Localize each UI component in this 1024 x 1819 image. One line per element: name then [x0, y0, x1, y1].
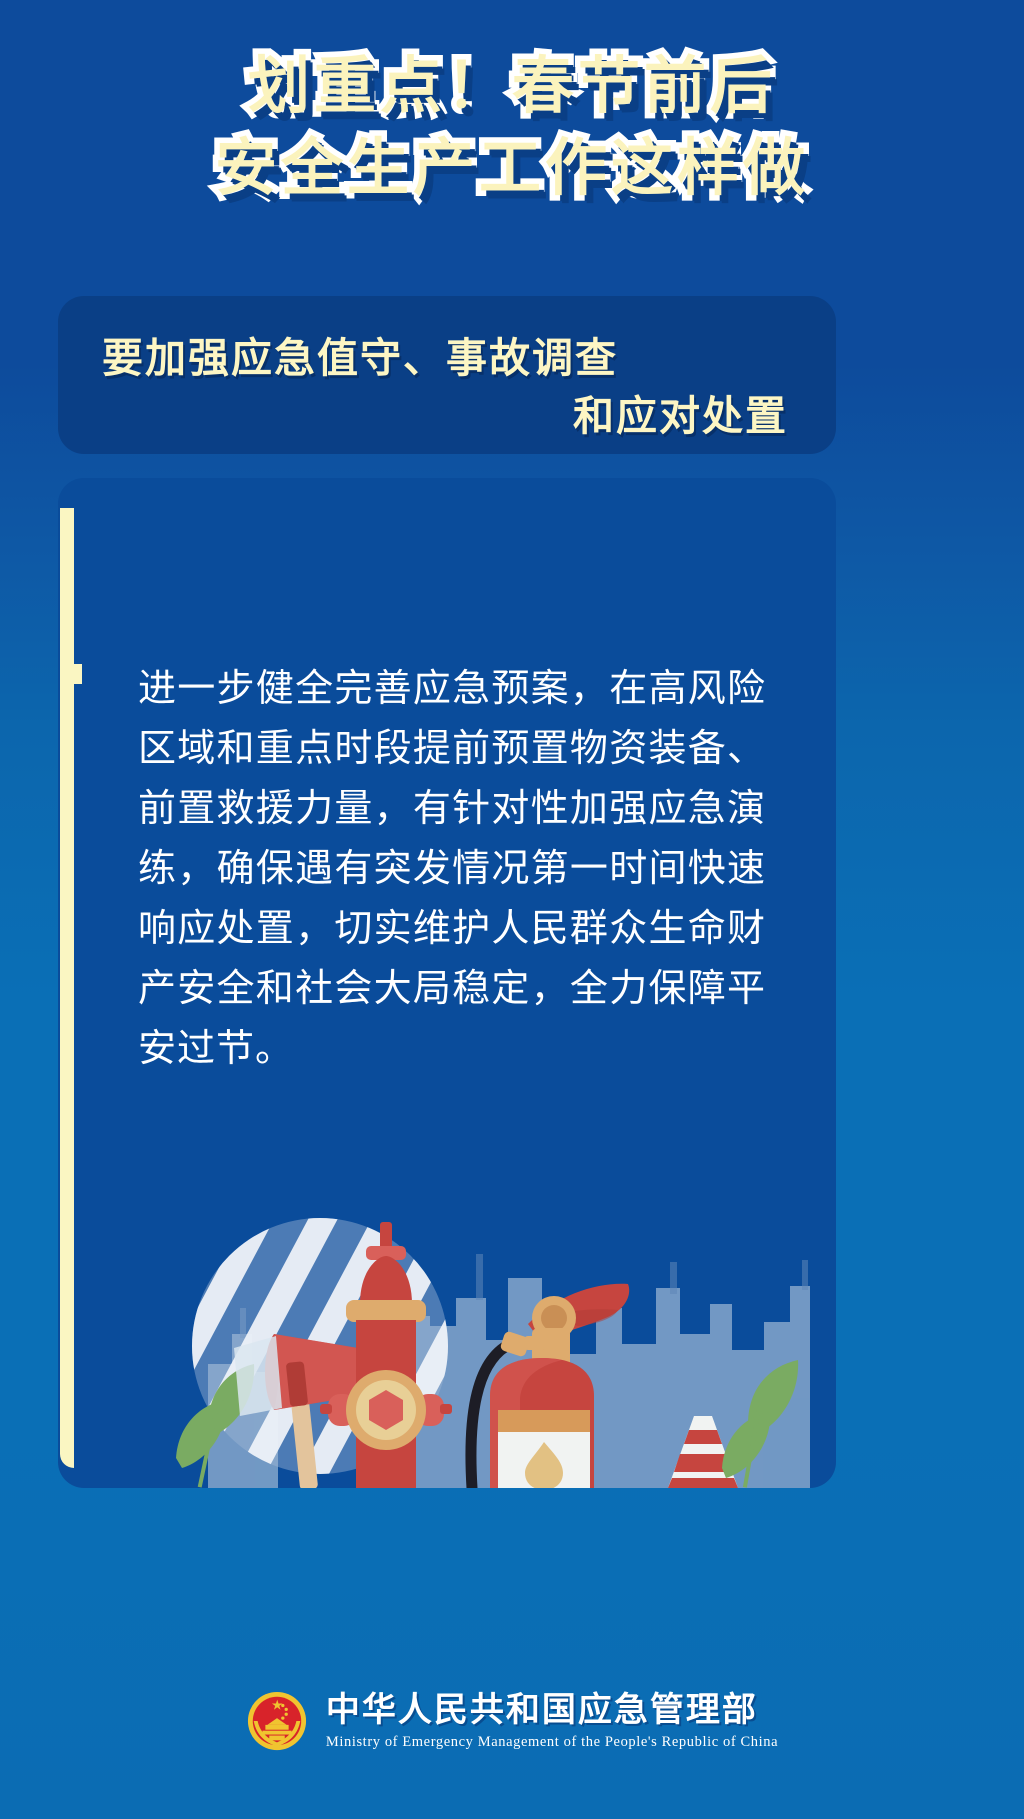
footer-branding: 中华人民共和国应急管理部 Ministry of Emergency Manag…: [0, 1690, 1024, 1752]
title-line-1: 划重点！春节前后: [0, 46, 1024, 126]
footer-org-en: Ministry of Emergency Management of the …: [326, 1732, 778, 1752]
subtitle-line-1: 要加强应急值守、事故调查: [102, 324, 618, 384]
title-line-2: 安全生产工作这样做: [0, 128, 1024, 208]
footer-text-group: 中华人民共和国应急管理部 Ministry of Emergency Manag…: [326, 1690, 778, 1752]
subtitle-banner: 要加强应急值守、事故调查 和应对处置: [58, 296, 836, 454]
poster-root: 划重点！春节前后 安全生产工作这样做 要加强应急值守、事故调查 和应对处置 进一…: [0, 0, 1024, 1819]
subtitle-line-2: 和应对处置: [573, 382, 788, 442]
content-accent-notch: [60, 664, 82, 684]
body-paragraph: 进一步健全完善应急预案，在高风险区域和重点时段提前预置物资装备、前置救援力量，有…: [138, 658, 766, 1078]
poster-title: 划重点！春节前后 安全生产工作这样做: [0, 46, 1024, 208]
footer-org-cn: 中华人民共和国应急管理部: [326, 1690, 778, 1730]
content-accent-bar: [60, 508, 74, 1468]
fire-safety-illustration: [58, 1158, 836, 1488]
content-card: 进一步健全完善应急预案，在高风险区域和重点时段提前预置物资装备、前置救援力量，有…: [58, 478, 836, 1488]
national-emblem-of-china-icon: [246, 1690, 308, 1752]
